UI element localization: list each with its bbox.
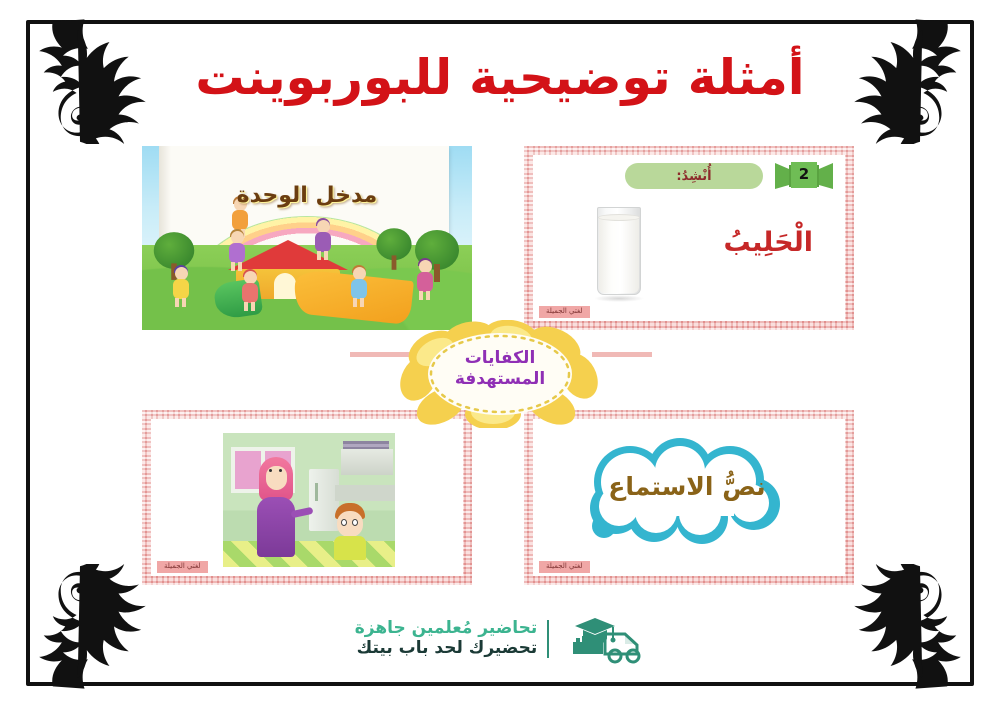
- slide-card-listening[interactable]: نصُّ الاستماع لغتي الجميلة: [524, 410, 854, 585]
- counter-icon: [335, 485, 395, 501]
- slide-listening-content: نصُّ الاستماع لغتي الجميلة: [533, 419, 845, 576]
- glass-of-milk-icon: [597, 207, 641, 301]
- mother-figure: [251, 457, 301, 557]
- lesson-number-badge: 2: [773, 160, 835, 192]
- mother-and-boy-illustration: [223, 433, 395, 567]
- slide-card-intro[interactable]: مدخل الوحدة: [142, 146, 472, 330]
- competencies-line2: المستهدفة: [455, 369, 545, 389]
- cabinet-icon: [341, 449, 393, 475]
- slide-kitchen-content: لغتي الجميلة: [151, 419, 463, 576]
- slide-card-milk[interactable]: أُنْشِدُ: 2 الْحَلِيبُ لغتي الجميلة: [524, 146, 854, 330]
- footer-logo: تحاضير مُعلمين جاهزة تحضيرك لحد باب بيتك: [0, 614, 1000, 664]
- page-title: أمثلة توضيحية للبوربوينت: [0, 52, 1000, 103]
- slide-card-kitchen[interactable]: لغتي الجميلة: [142, 410, 472, 585]
- cloud-shape-icon: نصُّ الاستماع: [572, 438, 802, 550]
- subject-tag: لغتي الجميلة: [157, 561, 208, 573]
- subject-tag: لغتي الجميلة: [539, 561, 590, 573]
- subject-tag: لغتي الجميلة: [539, 306, 590, 318]
- slide-milk-content: أُنْشِدُ: 2 الْحَلِيبُ لغتي الجميلة: [533, 155, 845, 321]
- recite-pill-label: أُنْشِدُ:: [625, 163, 763, 189]
- lesson-number: 2: [773, 165, 835, 183]
- listening-text-label: نصُّ الاستماع: [572, 472, 802, 501]
- logo-tagline-secondary: تحضيرك لحد باب بيتك: [355, 639, 538, 659]
- slide-intro-content: مدخل الوحدة: [142, 146, 472, 330]
- vocabulary-word: الْحَلِيبُ: [724, 227, 813, 258]
- slide-intro-title: مدخل الوحدة: [142, 183, 472, 208]
- logo-divider: [547, 620, 549, 658]
- competencies-line1: الكفايات: [465, 348, 536, 368]
- logo-tagline-primary: تحاضير مُعلمين جاهزة: [355, 619, 538, 639]
- delivery-truck-graduation-cap-icon: [559, 614, 645, 664]
- floor-tiles: [223, 541, 395, 567]
- competencies-label: الكفايات المستهدفة: [389, 348, 611, 391]
- tree-icon: [376, 228, 411, 270]
- boy-figure: [331, 503, 369, 559]
- center-competencies-node[interactable]: الكفايات المستهدفة: [389, 320, 611, 428]
- logo-text: تحاضير مُعلمين جاهزة تحضيرك لحد باب بيتك: [355, 619, 538, 658]
- poster-page: أمثلة توضيحية للبوربوينت: [0, 0, 1000, 706]
